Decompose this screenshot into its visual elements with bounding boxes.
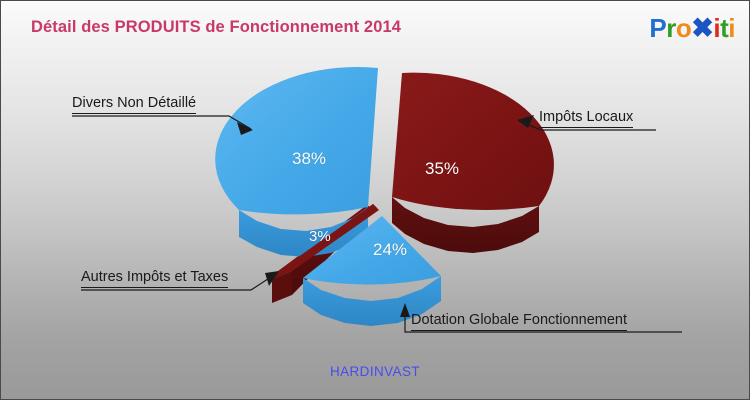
slice-label-dotation: Dotation Globale Fonctionnement — [411, 312, 627, 331]
pie-chart — [1, 1, 750, 400]
slice-label-autres: Autres Impôts et Taxes — [81, 269, 228, 288]
commune-name: HARDINVAST — [1, 364, 749, 379]
slice-top-impots-locaux — [392, 73, 554, 210]
slice-top-divers — [215, 67, 378, 214]
chart-frame: Détail des PRODUITS de Fonctionnement 20… — [0, 0, 750, 400]
slice-value-dotation: 24% — [373, 240, 407, 260]
slice-value-divers: 38% — [292, 149, 326, 169]
slice-value-impots: 35% — [425, 159, 459, 179]
slice-value-autres: 3% — [309, 228, 331, 245]
slice-label-divers: Divers Non Détaillé — [72, 95, 196, 114]
slice-label-impots: Impôts Locaux — [539, 109, 633, 128]
